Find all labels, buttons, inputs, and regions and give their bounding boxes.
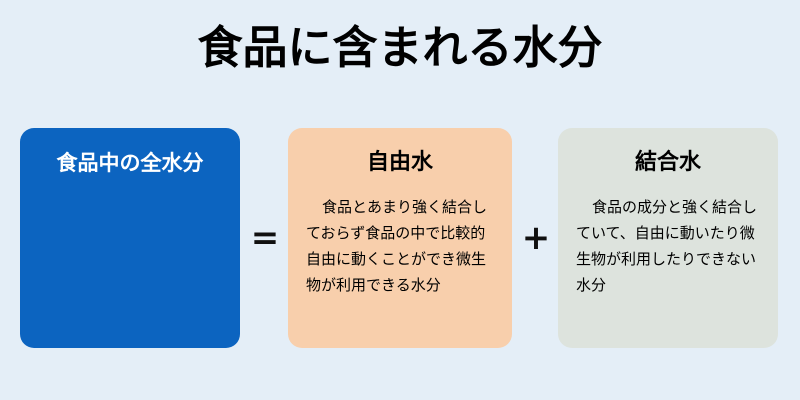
equals-operator: = [241,128,289,348]
equation-diagram: 食品中の全水分 = 自由水 食品とあまり強く結合しておらず食品の中で比較的自由に… [0,128,800,348]
card-total-water: 食品中の全水分 [20,128,240,348]
page-title: 食品に含まれる水分 [0,20,800,76]
plus-operator: + [512,128,560,348]
card-free-water-body: 食品とあまり強く結合しておらず食品の中で比較的自由に動くことができ微生物が利用で… [306,194,494,298]
card-free-water-heading: 自由水 [288,148,512,178]
card-free-water: 自由水 食品とあまり強く結合しておらず食品の中で比較的自由に動くことができ微生物… [288,128,512,348]
card-bound-water-body: 食品の成分と強く結合していて、自由に動いたり微生物が利用したりできない水分 [576,194,760,298]
card-total-water-heading: 食品中の全水分 [20,148,240,178]
card-bound-water-heading: 結合水 [558,148,778,178]
card-bound-water: 結合水 食品の成分と強く結合していて、自由に動いたり微生物が利用したりできない水… [558,128,778,348]
